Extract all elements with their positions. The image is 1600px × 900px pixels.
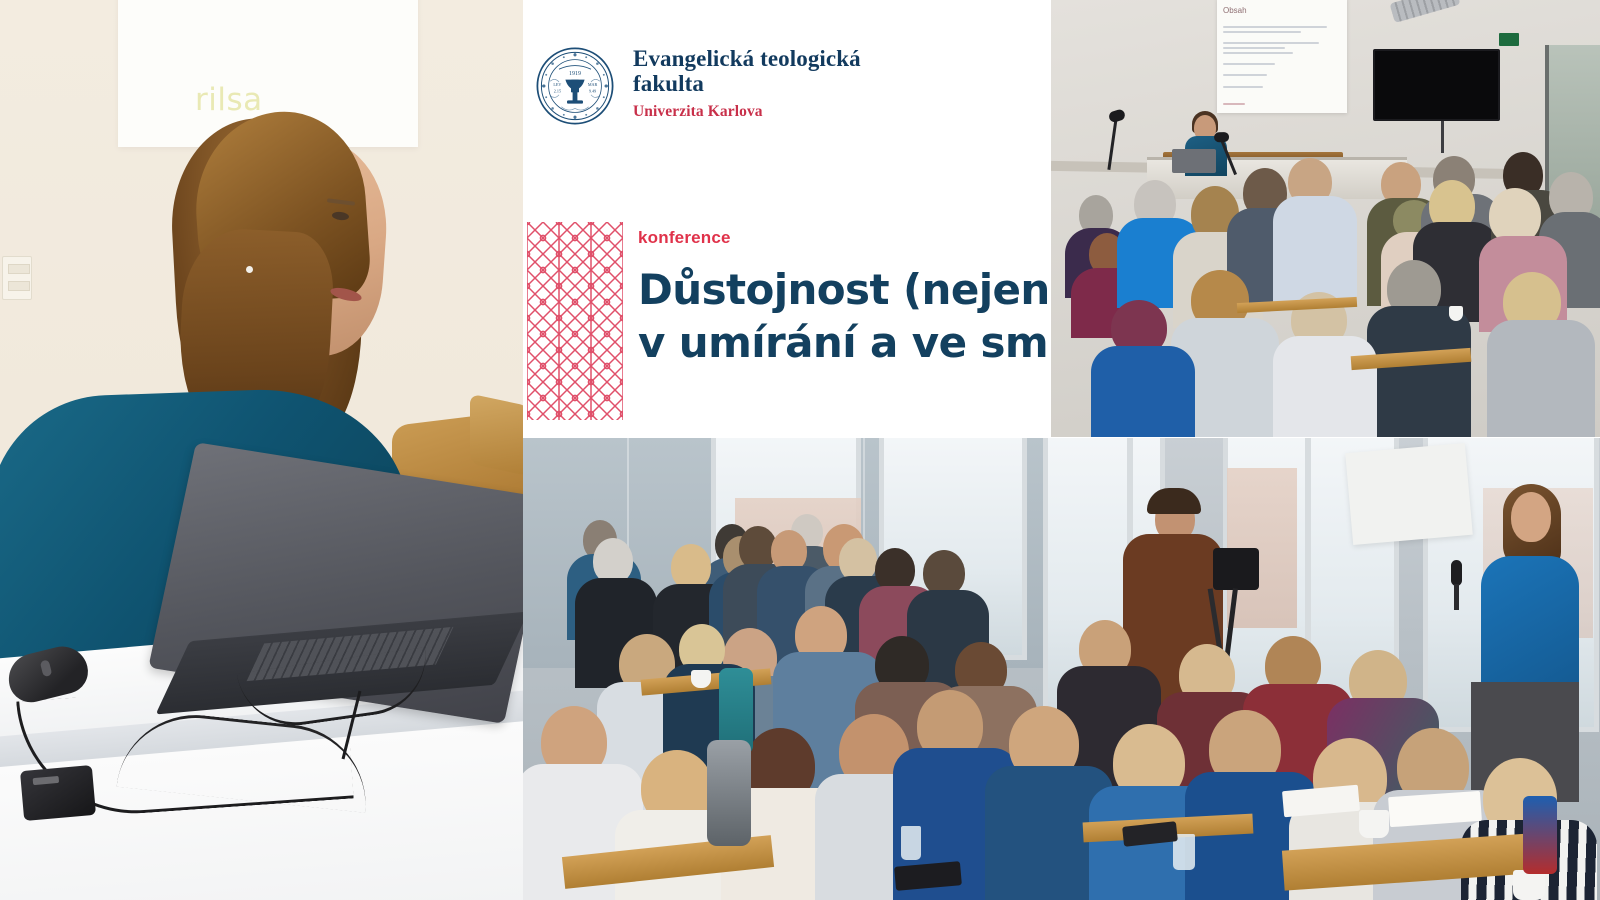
conference-poster-card: 1919 LEV 2.15 MAR 9.49 Evangelická teolo… (523, 0, 1051, 438)
slide-footer (1223, 103, 1245, 105)
audience-torso (1273, 196, 1357, 306)
slide-line (1223, 26, 1327, 28)
thermos (707, 740, 751, 846)
earring (246, 266, 253, 273)
poster-title-block: konference Důstojnost (nejen) v umírání … (638, 228, 1046, 368)
svg-text:9.49: 9.49 (589, 88, 596, 93)
institution-name-block: Evangelická teologická fakulta Univerzit… (633, 46, 861, 121)
lecture-hall-photo: Obsah (1051, 0, 1600, 437)
slide-line (1223, 47, 1285, 49)
coffee-cup (1449, 306, 1463, 321)
university-name: Univerzita Karlova (633, 103, 861, 121)
tv-cable (1441, 121, 1444, 153)
svg-text:MAR: MAR (588, 82, 598, 87)
light-switch (2, 256, 32, 300)
drink-bottle (1523, 796, 1557, 874)
water-glass (901, 826, 921, 860)
university-seal-icon: 1919 LEV 2.15 MAR 9.49 (535, 46, 615, 126)
svg-text:1919: 1919 (569, 71, 581, 77)
wooden-chair-arm (470, 394, 523, 477)
svg-text:LEV: LEV (553, 82, 561, 87)
flat-screen-tv (1373, 49, 1500, 121)
audience-torso (1367, 306, 1471, 437)
slide-line (1223, 86, 1263, 88)
black-device-box (20, 765, 96, 821)
slide-line (1223, 42, 1319, 44)
slide-line (1223, 63, 1275, 65)
hall-projection-screen (1217, 0, 1347, 113)
poster-eyebrow: konference (638, 228, 1046, 248)
diamond-lattice-pattern (527, 222, 623, 420)
slide-line (1223, 31, 1301, 33)
audience-torso (1487, 320, 1595, 437)
faculty-name-line2: fakulta (633, 71, 861, 96)
poster-title-line2: v umírání a ve smrti (638, 317, 1046, 368)
coffee-cup (691, 670, 711, 688)
microphone-handle (1454, 584, 1459, 610)
exit-sign-icon (1499, 33, 1519, 46)
standing-speaker-head (1511, 492, 1551, 542)
cameraman-hair (1147, 488, 1201, 514)
presenter-laptop (1172, 149, 1216, 173)
audience-torso (1273, 336, 1377, 437)
lattice-svg (527, 222, 623, 420)
coffee-cup (1513, 870, 1545, 900)
audience-torso (1091, 346, 1195, 437)
handheld-microphone (1451, 560, 1462, 586)
video-camera (1213, 548, 1259, 590)
slide-line (1223, 52, 1293, 54)
notebook (1388, 791, 1482, 827)
poster-title-line1: Důstojnost (nejen) (638, 264, 1046, 315)
rilsa-watermark: rilsa (195, 82, 263, 118)
flipchart-board (1345, 443, 1473, 545)
slide-heading: Obsah (1223, 6, 1247, 15)
audience-photo (523, 438, 1600, 900)
svg-text:2.15: 2.15 (554, 88, 561, 93)
faculty-name-line1: Evangelická teologická (633, 46, 861, 71)
speaker-photo: rilsa (0, 0, 523, 900)
coffee-cup (1359, 810, 1389, 838)
slide-line (1223, 74, 1267, 76)
collage-stage: rilsa (0, 0, 1600, 900)
institution-logo-row: 1919 LEV 2.15 MAR 9.49 Evangelická teolo… (535, 46, 861, 126)
